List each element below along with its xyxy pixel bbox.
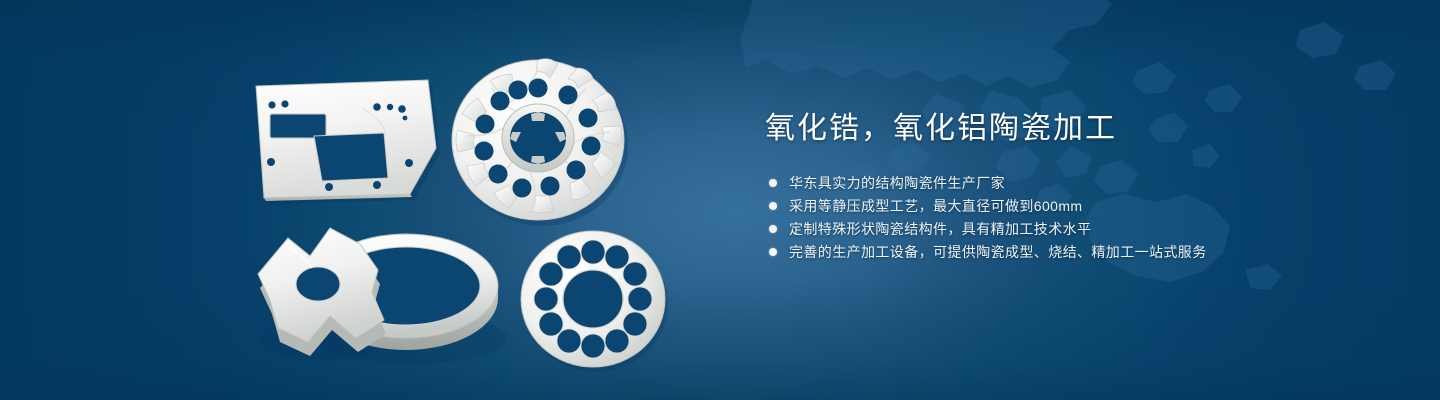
ceramic-impeller-disc	[446, 48, 632, 228]
bullet-dot-icon	[769, 225, 777, 233]
ceramic-cross-plate-and-ring	[252, 222, 522, 370]
ceramic-mounting-plate	[252, 78, 440, 202]
list-item-label: 定制特殊形状陶瓷结构件，具有精加工技术水平	[789, 218, 1091, 240]
hero-banner: 氧化锆，氧化铝陶瓷加工 华东具实力的结构陶瓷件生产厂家 采用等静压成型工艺，最大…	[0, 0, 1440, 400]
banner-copy: 氧化锆，氧化铝陶瓷加工 华东具实力的结构陶瓷件生产厂家 采用等静压成型工艺，最大…	[765, 108, 1385, 263]
product-photo-group	[0, 0, 720, 400]
page-title: 氧化锆，氧化铝陶瓷加工	[765, 108, 1385, 150]
feature-list: 华东具实力的结构陶瓷件生产厂家 采用等静压成型工艺，最大直径可做到600mm 定…	[769, 172, 1385, 263]
list-item: 华东具实力的结构陶瓷件生产厂家	[769, 172, 1385, 194]
bullet-dot-icon	[769, 202, 777, 210]
bullet-dot-icon	[769, 179, 777, 187]
list-item: 完善的生产加工设备，可提供陶瓷成型、烧结、精加工一站式服务	[769, 241, 1385, 263]
list-item: 定制特殊形状陶瓷结构件，具有精加工技术水平	[769, 218, 1385, 240]
list-item-label: 完善的生产加工设备，可提供陶瓷成型、烧结、精加工一站式服务	[789, 241, 1207, 263]
list-item-label: 华东具实力的结构陶瓷件生产厂家	[789, 172, 1005, 194]
bullet-dot-icon	[769, 248, 777, 256]
ceramic-perforated-disc	[516, 226, 672, 372]
list-item-label: 采用等静压成型工艺，最大直径可做到600mm	[789, 195, 1082, 217]
list-item: 采用等静压成型工艺，最大直径可做到600mm	[769, 195, 1385, 217]
